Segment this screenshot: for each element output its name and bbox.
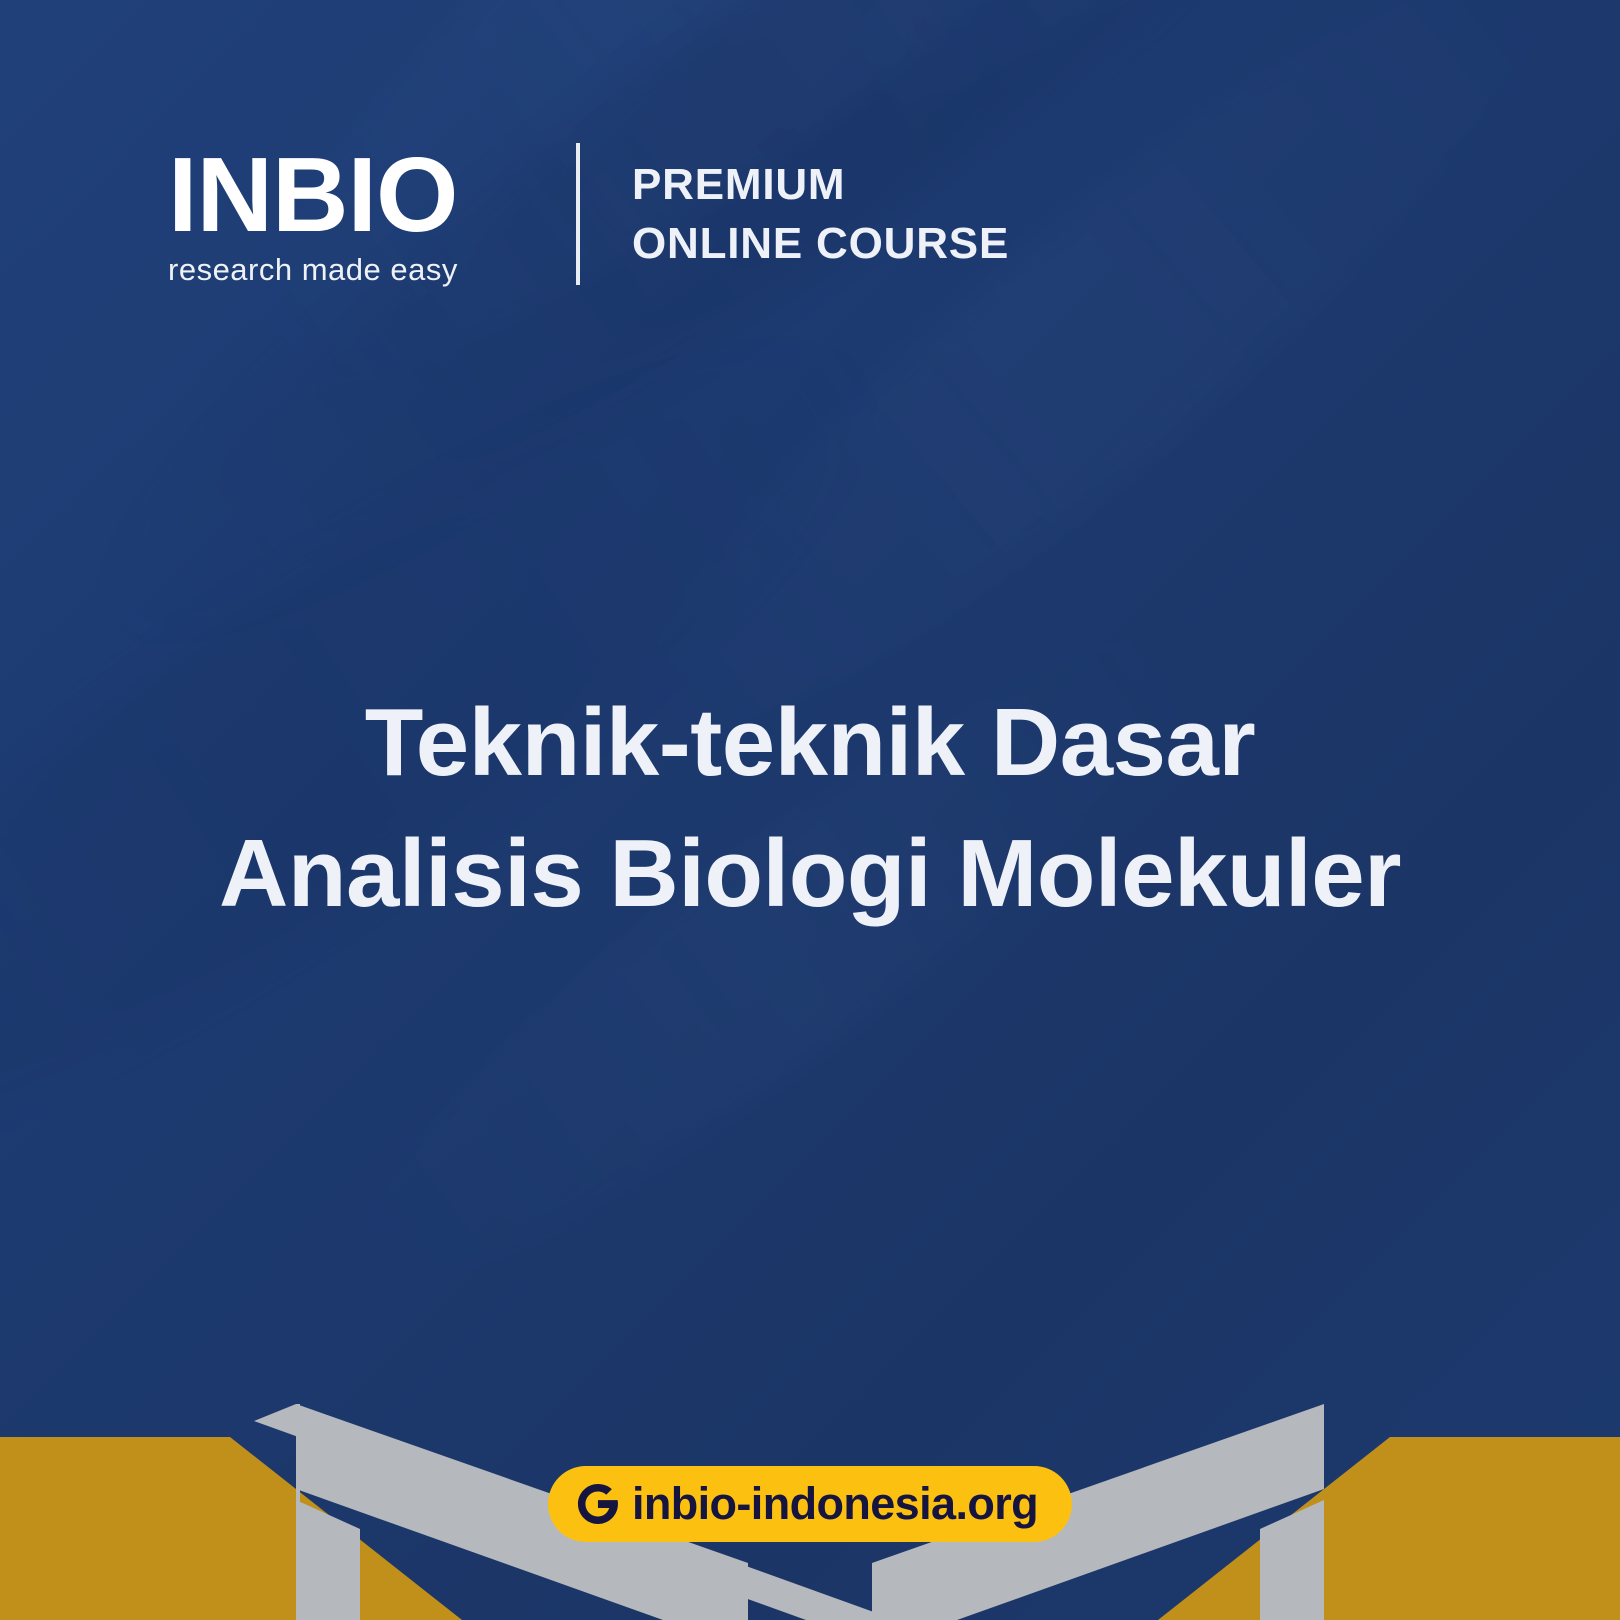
google-g-icon [574,1480,622,1528]
vertical-divider-icon [576,143,580,285]
logo-tagline: research made easy [168,252,458,288]
inbio-logo: INBIO research made easy [168,146,508,288]
kicker-line-online-course: ONLINE COURSE [632,215,1009,274]
title-line-1: Teknik-teknik Dasar [90,678,1530,809]
course-poster: INBIO research made easy PREMIUM ONLINE … [0,0,1620,1620]
poster-header: INBIO research made easy PREMIUM ONLINE … [168,146,1009,288]
kicker-line-premium: PREMIUM [632,156,1009,215]
website-url-text: inbio-indonesia.org [632,1481,1038,1526]
title-line-2: Analisis Biologi Molekuler [90,809,1530,940]
page-title: Teknik-teknik Dasar Analisis Biologi Mol… [0,678,1620,939]
website-url-badge[interactable]: inbio-indonesia.org [548,1466,1072,1542]
logo-wordmark: INBIO [168,146,457,246]
course-kicker: PREMIUM ONLINE COURSE [632,156,1009,274]
